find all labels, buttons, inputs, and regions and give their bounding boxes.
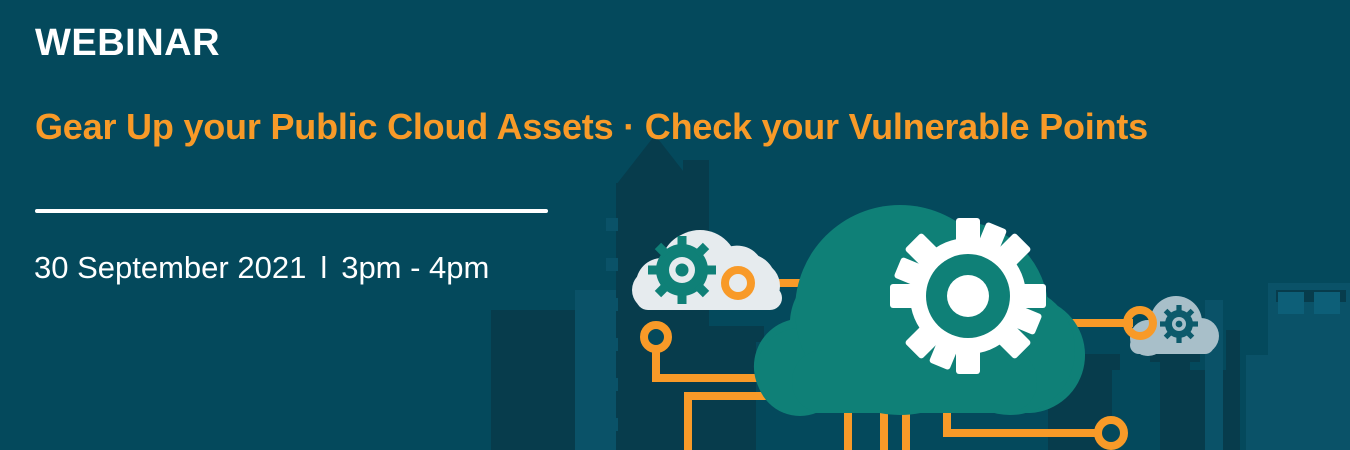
banner-text: WEBINAR Gear Up your Public Cloud Assets… xyxy=(0,0,1350,450)
event-meta: 30 September 2021l3pm - 4pm xyxy=(34,250,489,286)
divider-rule xyxy=(35,209,548,213)
page-title: Gear Up your Public Cloud Assets · Check… xyxy=(35,107,1148,147)
webinar-banner: WEBINAR Gear Up your Public Cloud Assets… xyxy=(0,0,1350,450)
banner-eyebrow: WEBINAR xyxy=(35,24,220,64)
event-date: 30 September 2021 xyxy=(34,250,306,285)
event-time: 3pm - 4pm xyxy=(341,250,489,285)
meta-separator: l xyxy=(306,250,341,286)
